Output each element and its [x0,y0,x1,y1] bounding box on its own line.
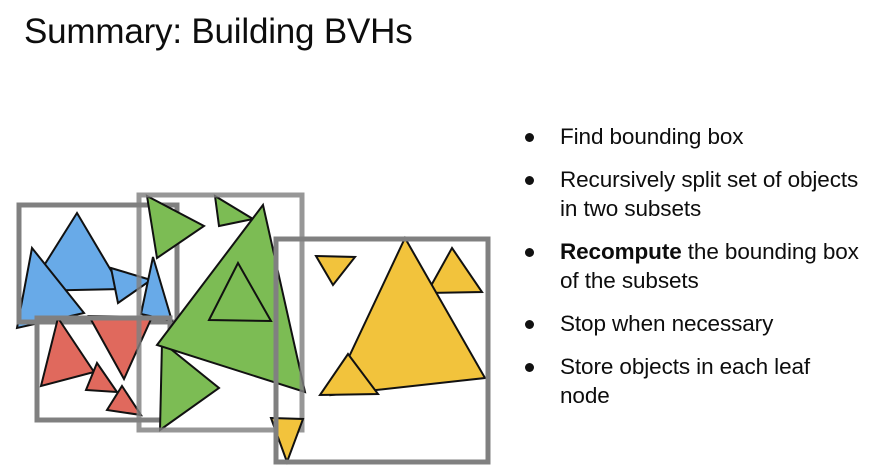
bvh-figure [0,180,512,476]
bullet-bold-prefix: Recompute [560,239,682,264]
bullet-item-recompute-bounding-box: Recompute the bounding box of the subset… [520,237,864,295]
page-title: Summary: Building BVHs [24,8,413,56]
slide-root: Summary: Building BVHs [0,0,870,476]
bullet-item-store-objects: Store objects in each leaf node [520,352,864,410]
bullet-body: Find bounding box [560,124,743,149]
bullet-list: Find bounding box Recursively split set … [520,122,864,424]
bullet-text: Stop when necessary [560,311,773,336]
bullet-item-recursively-split: Recursively split set of objects in two … [520,165,864,223]
bvh-figure-svg [0,180,512,476]
green-triangle-2 [215,196,253,226]
bullet-dot-icon [525,363,534,372]
bullet-body: Store objects in each leaf node [560,354,810,408]
bullet-dot-icon [525,133,534,142]
bullet-item-stop-when-necessary: Stop when necessary [520,309,864,338]
yellow-triangle-1 [316,256,355,285]
bullet-text: Store objects in each leaf node [560,354,810,408]
yellow-triangle-2 [427,248,482,293]
bullet-dot-icon [525,248,534,257]
red-triangle-1 [41,318,94,386]
bullet-text: Recursively split set of objects in two … [560,167,858,221]
red-cluster [41,316,152,415]
bullet-body: Stop when necessary [560,311,773,336]
bullet-dot-icon [525,320,534,329]
bullet-text: Find bounding box [560,124,743,149]
blue-cluster [17,213,151,328]
green-cluster [147,196,305,430]
blue-triangle-4 [141,257,172,321]
bullet-text: Recompute the bounding box of the subset… [560,239,859,293]
bullet-dot-icon [525,176,534,185]
bullet-body: Recursively split set of objects in two … [560,167,858,221]
bullet-item-find-bounding-box: Find bounding box [520,122,864,151]
